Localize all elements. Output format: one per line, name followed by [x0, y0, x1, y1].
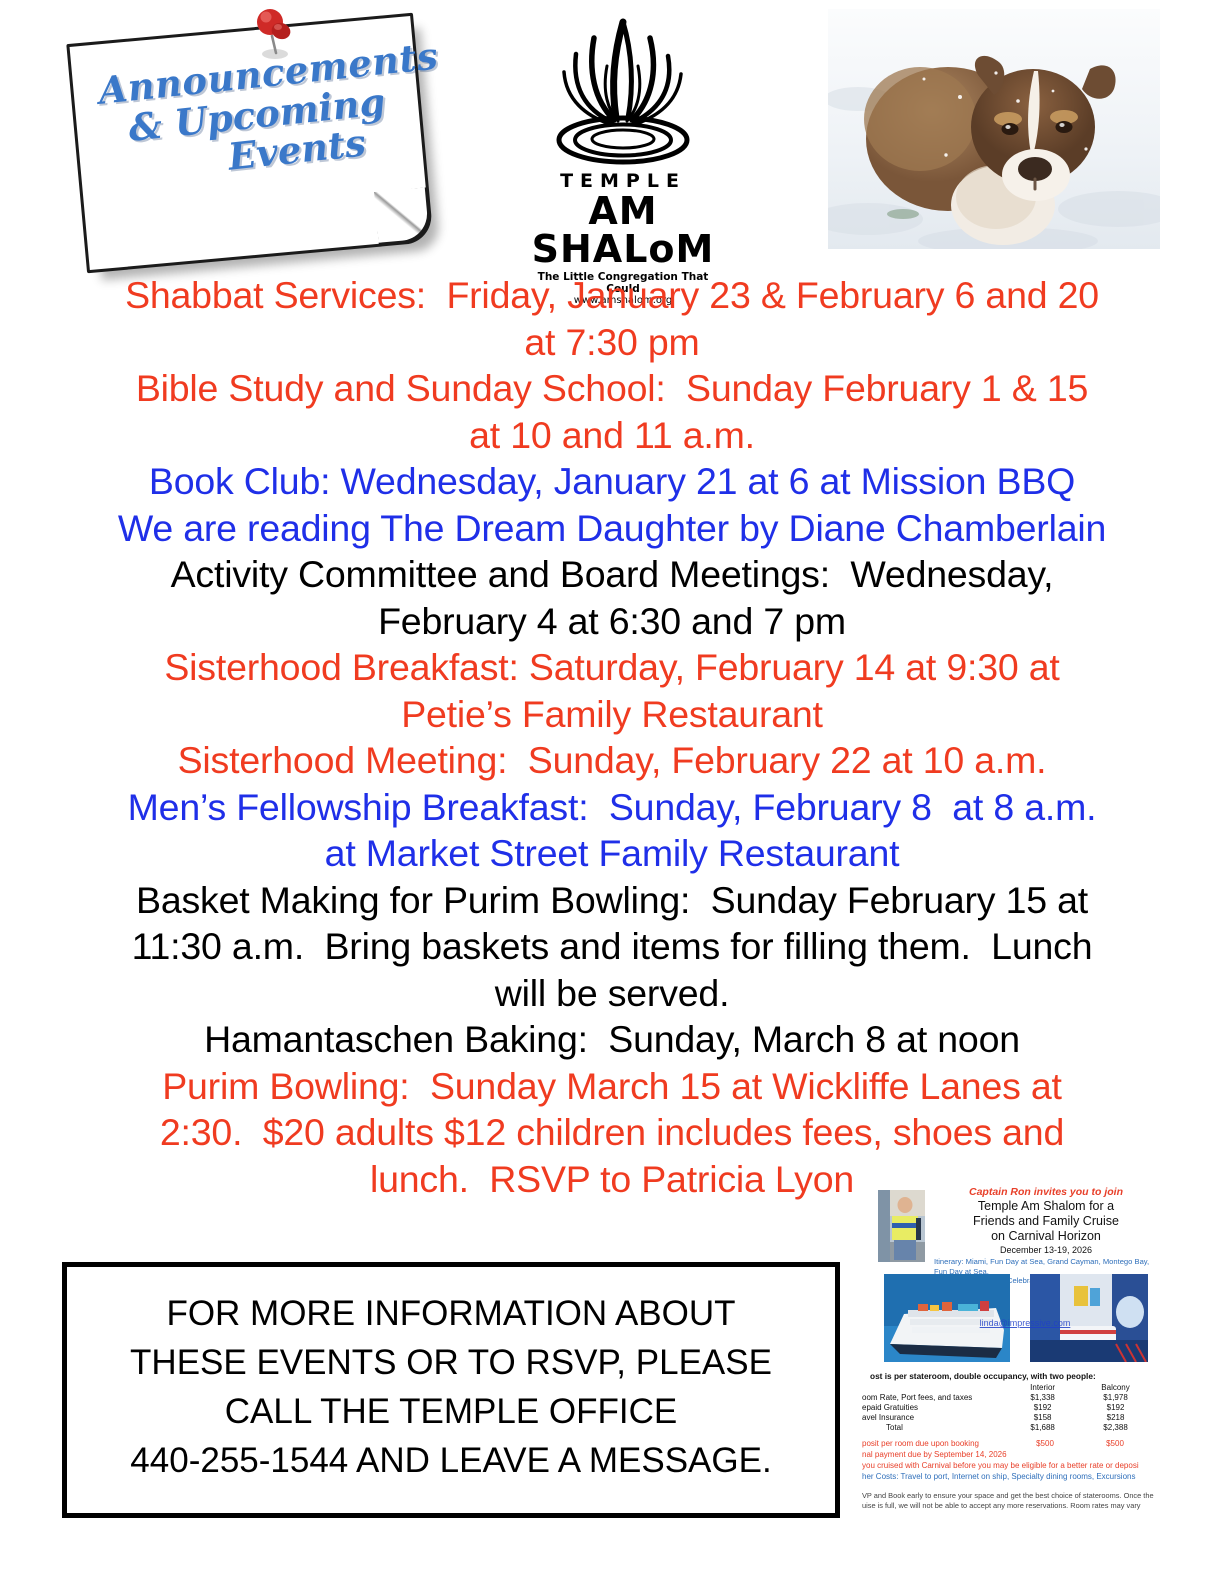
contact-info-box: FOR MORE INFORMATION ABOUT THESE EVENTS …: [62, 1262, 840, 1518]
row-interior: $158: [1006, 1412, 1079, 1422]
footer-line-2: uise is full, we will not be able to acc…: [862, 1501, 1160, 1511]
cruise-title-block: Captain Ron invites you to join Temple A…: [932, 1186, 1160, 1286]
cruise-dates: December 13-19, 2026: [932, 1244, 1160, 1256]
header-banner: Announcements & Upcoming Events: [0, 0, 1224, 268]
total-interior: $1,688: [1006, 1422, 1079, 1432]
announcement-line: at 7:30 pm: [46, 319, 1178, 366]
contact-info-text: FOR MORE INFORMATION ABOUT THESE EVENTS …: [67, 1267, 835, 1485]
announcement-line: Sisterhood Meeting: Sunday, February 22 …: [46, 737, 1178, 784]
table-row: epaid Gratuities $192 $192: [862, 1402, 1152, 1412]
row-balcony: $1,978: [1079, 1392, 1152, 1402]
announcement-line: Book Club: Wednesday, January 21 at 6 at…: [46, 458, 1178, 505]
cruise-price-table: Interior Balcony oom Rate, Port fees, an…: [862, 1382, 1152, 1432]
info-line: CALL THE TEMPLE OFFICE: [83, 1387, 819, 1436]
row-label: avel Insurance: [862, 1412, 1006, 1422]
col-interior: Interior: [1006, 1382, 1079, 1392]
table-header-row: Interior Balcony: [862, 1382, 1152, 1392]
announcement-line: Hamantaschen Baking: Sunday, March 8 at …: [46, 1016, 1178, 1063]
cruise-header: Captain Ron invites you to join Temple A…: [862, 1186, 1162, 1272]
row-balcony: $192: [1079, 1402, 1152, 1412]
cruise-contact-email[interactable]: linda@impressive.com: [950, 1318, 1100, 1329]
deposit-interior: $500: [1010, 1438, 1080, 1449]
row-interior: $192: [1006, 1402, 1079, 1412]
cruise-title-line-3: on Carnival Horizon: [932, 1229, 1160, 1244]
other-costs-note: her Costs: Travel to port, Internet on s…: [862, 1471, 1160, 1482]
info-line: 440-255-1544 AND LEAVE A MESSAGE.: [83, 1436, 819, 1485]
announcements-sticky-note: Announcements & Upcoming Events: [60, 6, 460, 268]
announcement-line: Petie’s Family Restaurant: [46, 691, 1178, 738]
cruise-title-line-1: Temple Am Shalom for a: [932, 1199, 1160, 1214]
announcement-line: Activity Committee and Board Meetings: W…: [46, 551, 1178, 598]
temple-am-shalom-logo: TEMPLE AM SHALoM The Little Congregation…: [520, 14, 726, 268]
captain-ron-photo: [878, 1190, 925, 1262]
announcement-line: Bible Study and Sunday School: Sunday Fe…: [46, 365, 1178, 412]
note-corner-curl: [374, 187, 433, 246]
cruise-deposit-block: posit per room due upon booking $500 $50…: [862, 1438, 1160, 1471]
itinerary-line-1: Itinerary: Miami, Fun Day at Sea, Grand …: [934, 1257, 1132, 1266]
total-balcony: $2,388: [1079, 1422, 1152, 1432]
total-label: Total: [862, 1422, 1006, 1432]
push-pin-icon: [245, 6, 301, 68]
announcement-line: at 10 and 11 a.m.: [46, 412, 1178, 459]
cruise-cost-note: ost is per stateroom, double occupancy, …: [862, 1370, 1160, 1382]
info-line: FOR MORE INFORMATION ABOUT: [83, 1289, 819, 1338]
final-payment-note: nal payment due by September 14, 2026: [862, 1449, 1160, 1460]
col-blank: [862, 1382, 1006, 1392]
announcement-line: will be served.: [46, 970, 1178, 1017]
deposit-balcony: $500: [1080, 1438, 1150, 1449]
table-row: avel Insurance $158 $218: [862, 1412, 1152, 1422]
cruise-pricing-section: ost is per stateroom, double occupancy, …: [862, 1366, 1162, 1511]
announcement-line: We are reading The Dream Daughter by Dia…: [46, 505, 1178, 552]
cruise-invite-line: Captain Ron invites you to join: [932, 1186, 1160, 1199]
deposit-label: posit per room due upon booking: [862, 1438, 1010, 1449]
announcement-line: at Market Street Family Restaurant: [46, 830, 1178, 877]
row-label: epaid Gratuities: [862, 1402, 1006, 1412]
row-interior: $1,338: [1006, 1392, 1079, 1402]
row-balcony: $218: [1079, 1412, 1152, 1422]
footer-line-1: VP and Book early to ensure your space a…: [862, 1491, 1160, 1501]
table-row: oom Rate, Port fees, and taxes $1,338 $1…: [862, 1392, 1152, 1402]
announcement-line: 2:30. $20 adults $12 children includes f…: [46, 1109, 1178, 1156]
deposit-row: posit per room due upon booking $500 $50…: [862, 1438, 1160, 1449]
announcement-line: February 4 at 6:30 and 7 pm: [46, 598, 1178, 645]
cruise-images: linda@impressive.com: [862, 1274, 1162, 1366]
info-line: THESE EVENTS OR TO RSVP, PLEASE: [83, 1338, 819, 1387]
announcement-line: Basket Making for Purim Bowling: Sunday …: [46, 877, 1178, 924]
logo-am-shalom-word: AM SHALoM: [520, 192, 726, 268]
announcement-line: 11:30 a.m. Bring baskets and items for f…: [46, 923, 1178, 970]
carnival-rate-note: you cruised with Carnival before you may…: [862, 1460, 1160, 1471]
announcement-list: Shabbat Services: Friday, January 23 & F…: [46, 272, 1178, 1202]
cruise-flyer: Captain Ron invites you to join Temple A…: [862, 1186, 1162, 1556]
announcement-line: Men’s Fellowship Breakfast: Sunday, Febr…: [46, 784, 1178, 831]
announcement-line: Purim Bowling: Sunday March 15 at Wickli…: [46, 1063, 1178, 1110]
announcement-line: Sisterhood Breakfast: Saturday, February…: [46, 644, 1178, 691]
announcement-line: Shabbat Services: Friday, January 23 & F…: [46, 272, 1178, 319]
cruise-title-line-2: Friends and Family Cruise: [932, 1214, 1160, 1229]
cruise-footer-note: VP and Book early to ensure your space a…: [862, 1491, 1160, 1511]
col-balcony: Balcony: [1079, 1382, 1152, 1392]
table-total-row: Total $1,688 $2,388: [862, 1422, 1152, 1432]
dog-in-snow-photo: [828, 9, 1160, 249]
row-label: oom Rate, Port fees, and taxes: [862, 1392, 1006, 1402]
flame-logo-icon: [528, 14, 718, 174]
